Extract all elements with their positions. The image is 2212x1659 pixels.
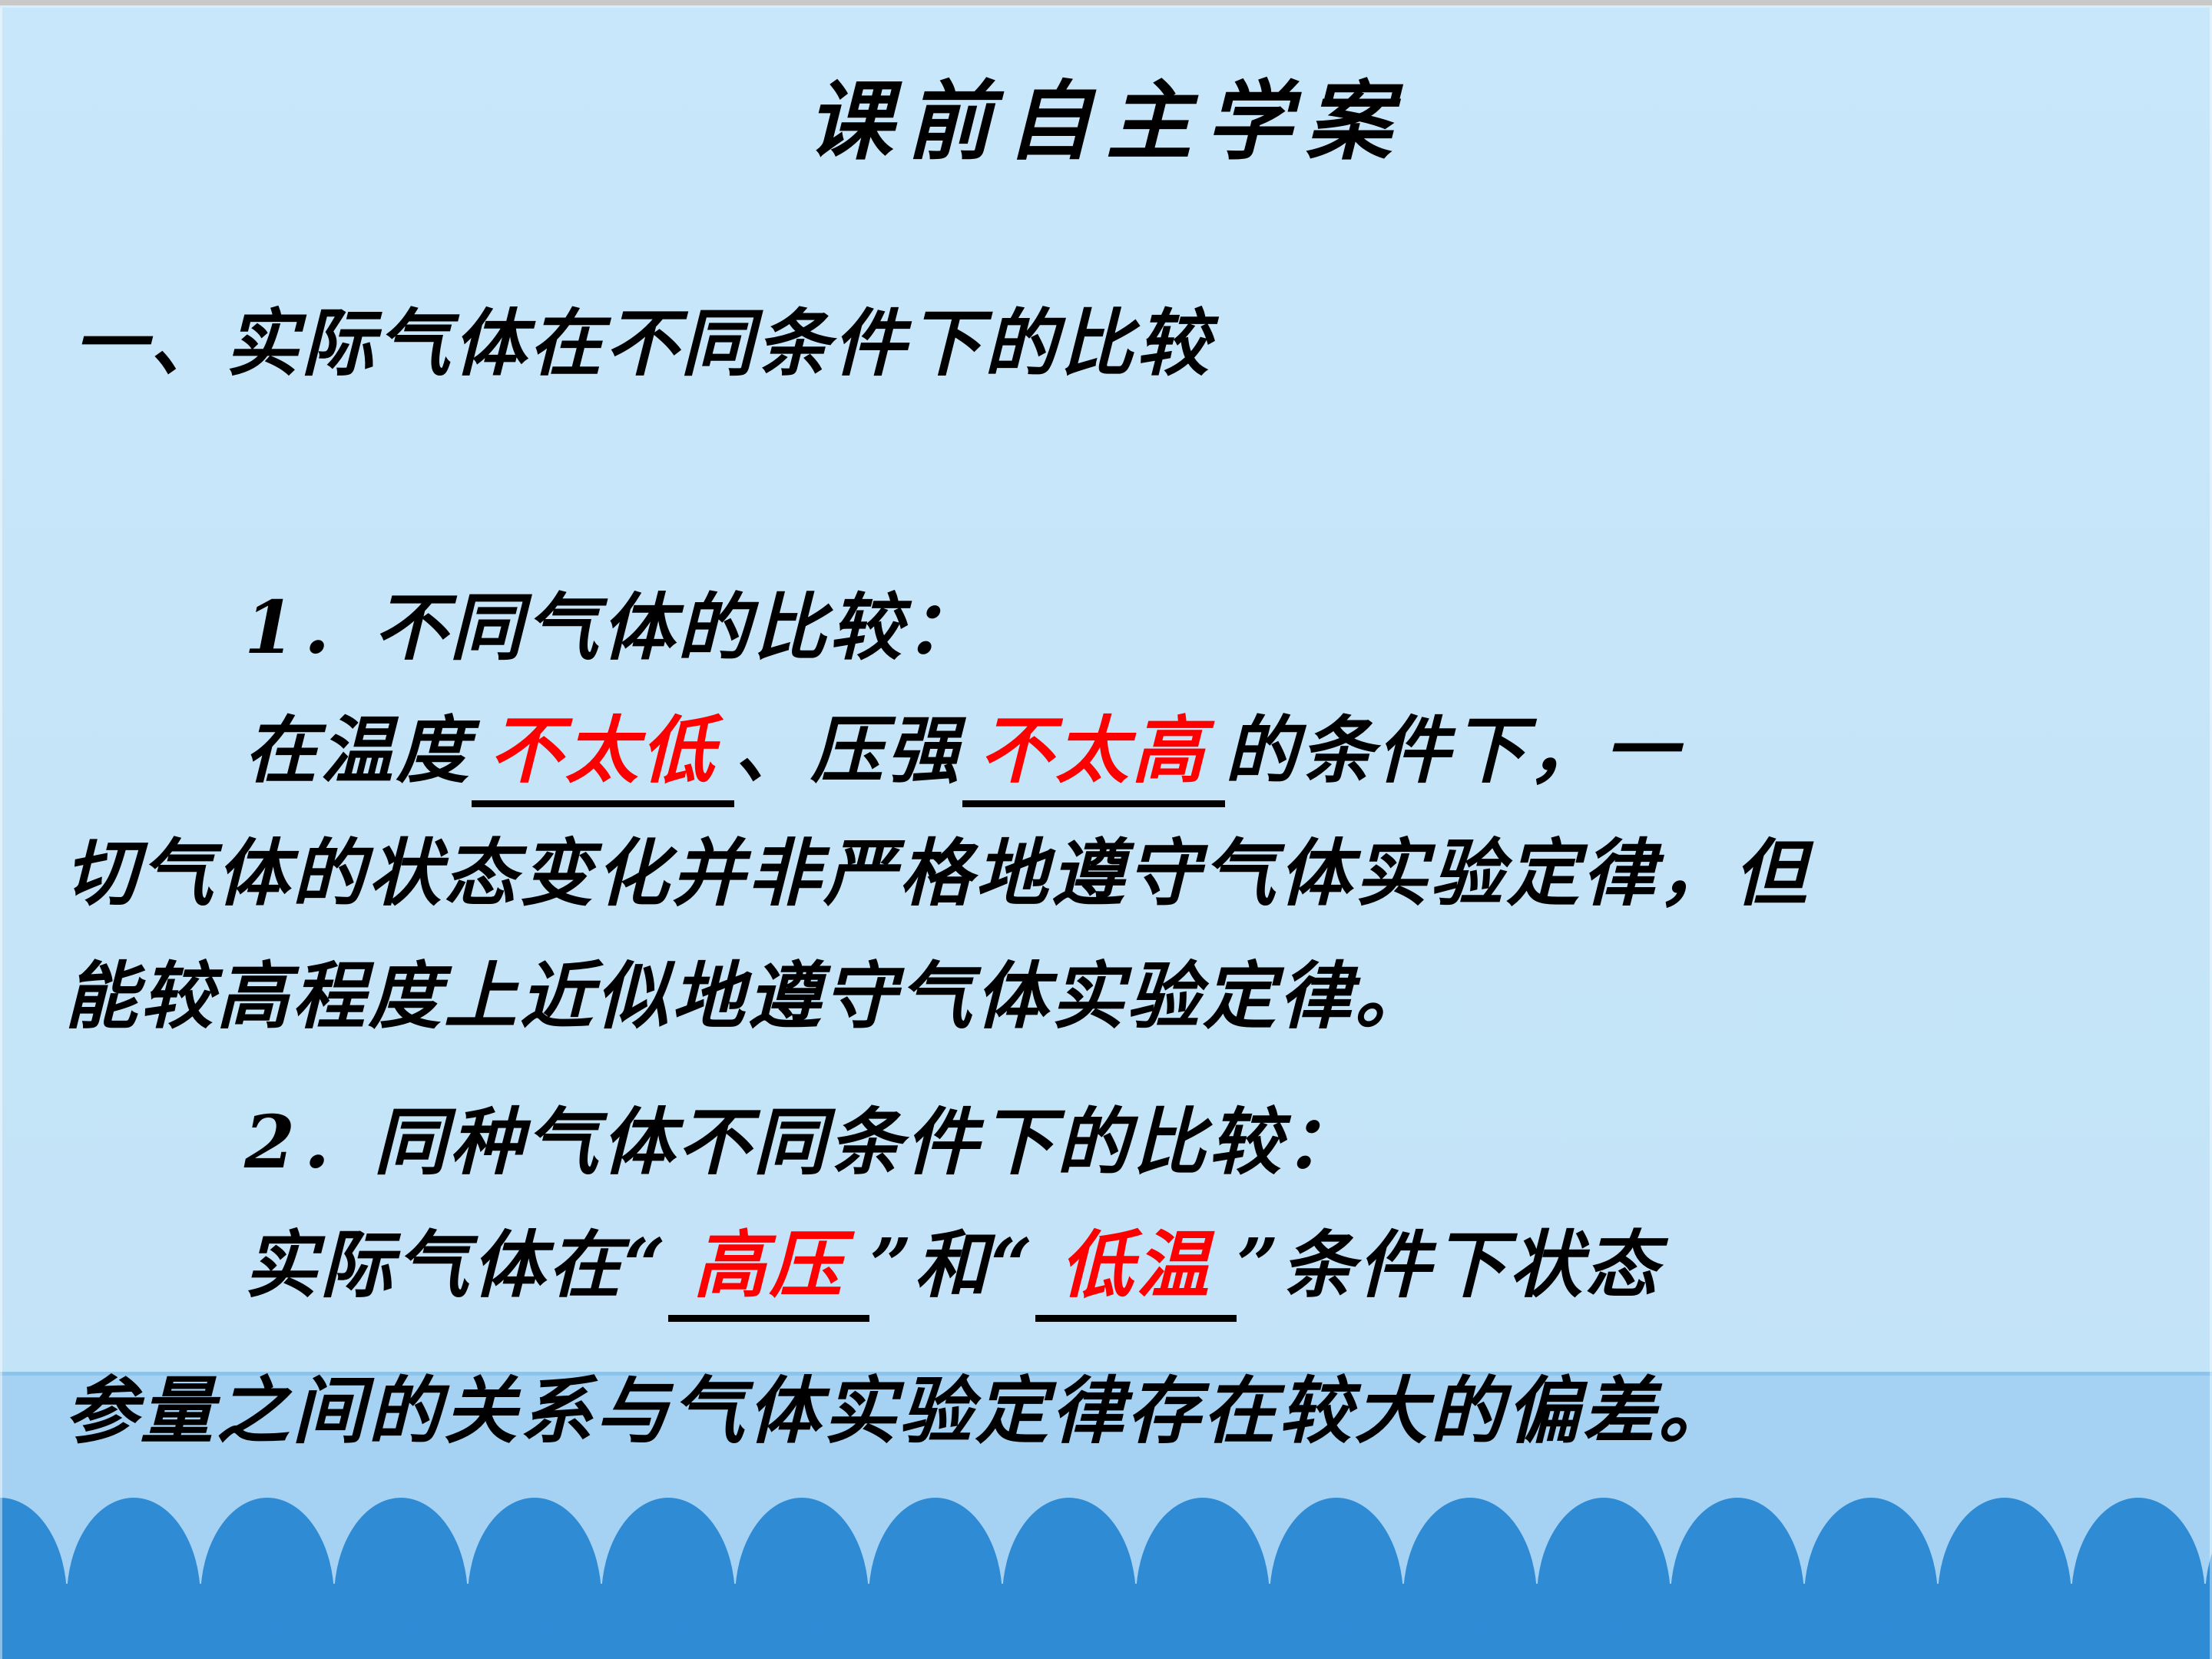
arch-shape	[401, 1584, 535, 1659]
arch-shape	[1470, 1584, 1604, 1659]
body-text: 的条件下，一	[1225, 708, 1681, 793]
item-1-body-line-1: 在温度不太低、压强不太高的条件下，一	[244, 714, 1681, 787]
item-number: 2．	[244, 1100, 374, 1185]
fill-in-answer: 低温	[1060, 1223, 1212, 1308]
body-text: 参量之间的关系与气体实验定律存在较大的偏差。	[65, 1369, 1734, 1454]
item-heading-text: 不同气体的比较：	[374, 585, 981, 671]
section-heading-one: 一、实际气体在不同条件下的比较	[74, 307, 1212, 380]
fill-in-blank[interactable]: 不太低	[472, 714, 734, 787]
arch-shape	[1336, 1584, 1470, 1659]
arch-shape	[1604, 1584, 1737, 1659]
slide-canvas: 课前自主学案 一、实际气体在不同条件下的比较 1．不同气体的比较： 在温度不太低…	[0, 0, 2212, 1659]
arch-row-bottom	[0, 1584, 2212, 1659]
arch-shape	[1203, 1584, 1336, 1659]
item-number: 1．	[244, 585, 374, 671]
arch-shape	[0, 1584, 134, 1659]
arch-shape	[1871, 1584, 2005, 1659]
item-1-body-line-3: 能较高程度上近似地遵守气体实验定律。	[65, 960, 1430, 1033]
fill-in-answer: 不太高	[980, 708, 1207, 793]
scalloped-arch-border	[0, 1498, 2212, 1659]
body-text: 能较高程度上近似地遵守气体实验定律。	[65, 954, 1430, 1039]
fill-in-blank[interactable]: 不太高	[962, 714, 1225, 787]
body-text: 、压强	[734, 708, 962, 793]
arch-shape	[2005, 1584, 2138, 1659]
fill-in-blank[interactable]: 高压	[668, 1229, 869, 1302]
blank-underline	[962, 800, 1225, 807]
blank-underline	[1035, 1315, 1237, 1322]
arch-shape	[802, 1584, 935, 1659]
arch-shape	[1069, 1584, 1203, 1659]
fill-in-answer: 不太低	[489, 708, 717, 793]
blank-underline	[472, 800, 734, 807]
body-text: 实际气体在“	[244, 1223, 668, 1308]
body-text: ”和“	[869, 1223, 1035, 1308]
arch-shape	[2138, 1584, 2212, 1659]
item-1-body-line-2: 切气体的状态变化并非严格地遵守气体实验定律，但	[65, 837, 1810, 910]
arch-shape	[134, 1584, 267, 1659]
fill-in-blank[interactable]: 低温	[1035, 1229, 1237, 1302]
arch-shape	[935, 1584, 1069, 1659]
item-2-body-line-1: 实际气体在“高压”和“低温”条件下状态	[244, 1229, 1661, 1302]
blank-underline	[668, 1315, 869, 1322]
body-text: 切气体的状态变化并非严格地遵守气体实验定律，但	[65, 831, 1810, 916]
body-text: ”条件下状态	[1237, 1223, 1661, 1308]
body-text: 在温度	[244, 708, 472, 793]
arch-shape	[267, 1584, 401, 1659]
arch-shape	[668, 1584, 802, 1659]
left-edge-border	[0, 8, 2, 1659]
fill-in-answer: 高压	[694, 1223, 846, 1308]
item-2-body-line-2: 参量之间的关系与气体实验定律存在较大的偏差。	[65, 1375, 1734, 1448]
top-gray-strip	[0, 0, 2212, 5]
top-hairline	[0, 5, 2212, 8]
item-2-heading: 2．同种气体不同条件下的比较：	[244, 1106, 1360, 1179]
arch-shape	[1737, 1584, 1871, 1659]
page-title: 课前自主学案	[0, 52, 2212, 177]
arch-shape	[535, 1584, 668, 1659]
item-1-heading: 1．不同气体的比较：	[244, 591, 981, 664]
item-heading-text: 同种气体不同条件下的比较：	[374, 1100, 1360, 1185]
